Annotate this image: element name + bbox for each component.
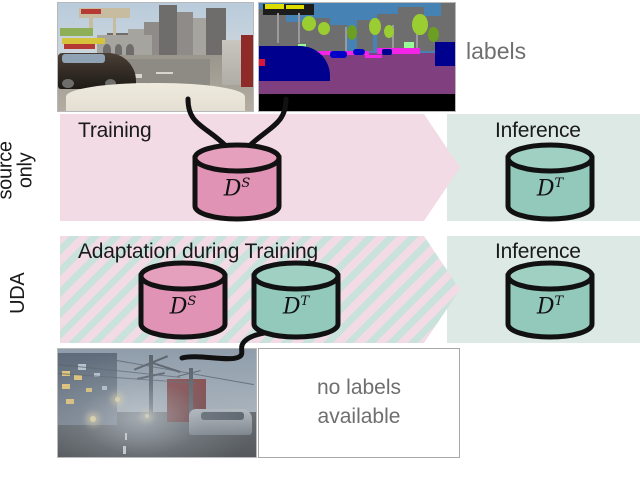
band-title-inference-uda: Inference <box>495 240 581 264</box>
database-cylinder-source-training: DS <box>189 144 285 222</box>
database-cylinder-source-adaptation: DS <box>135 262 231 340</box>
labels-annotation: labels <box>466 38 526 65</box>
no-labels-line-1: no labels <box>317 374 401 403</box>
database-cylinder-target-adaptation: DT <box>248 262 344 340</box>
no-labels-line-2: available <box>318 403 401 432</box>
database-cylinder-target-inference-uda: DT <box>502 262 598 340</box>
band-title-adaptation: Adaptation during Training <box>78 240 318 264</box>
database-cylinder-target-inference-source-only: DT <box>502 144 598 222</box>
